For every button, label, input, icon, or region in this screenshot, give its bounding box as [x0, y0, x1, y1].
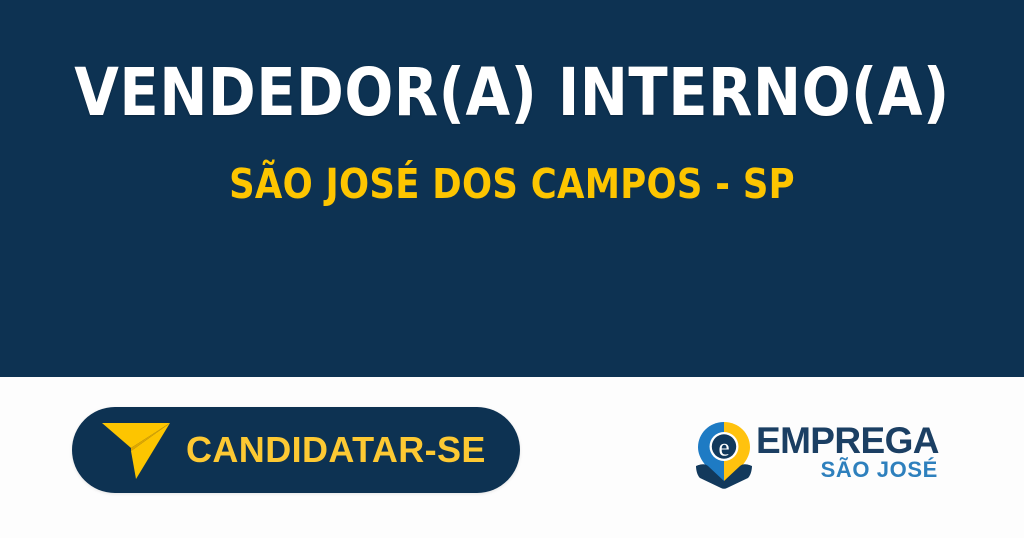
job-location: São José dos Campos - SP: [20, 160, 1003, 208]
brand-name-secondary: SÃO JOSÉ: [821, 458, 938, 482]
apply-button[interactable]: Candidatar-se: [72, 407, 520, 493]
paper-plane-icon: [100, 417, 172, 483]
map-pin-e-icon: e: [694, 421, 754, 489]
apply-button-label: Candidatar-se: [186, 432, 486, 468]
brand-name-primary: EMPREGA: [756, 422, 939, 460]
brand-wordmark: EMPREGA SÃO JOSÉ: [756, 422, 939, 482]
svg-text:e: e: [718, 435, 729, 462]
job-title: Vendedor(a) Interno(a): [15, 55, 1008, 131]
brand-logo: e EMPREGA SÃO JOSÉ: [694, 419, 932, 491]
hero-banner: Vendedor(a) Interno(a) São José dos Camp…: [0, 0, 1024, 377]
job-vacancy-poster: Vendedor(a) Interno(a) São José dos Camp…: [0, 0, 1024, 538]
